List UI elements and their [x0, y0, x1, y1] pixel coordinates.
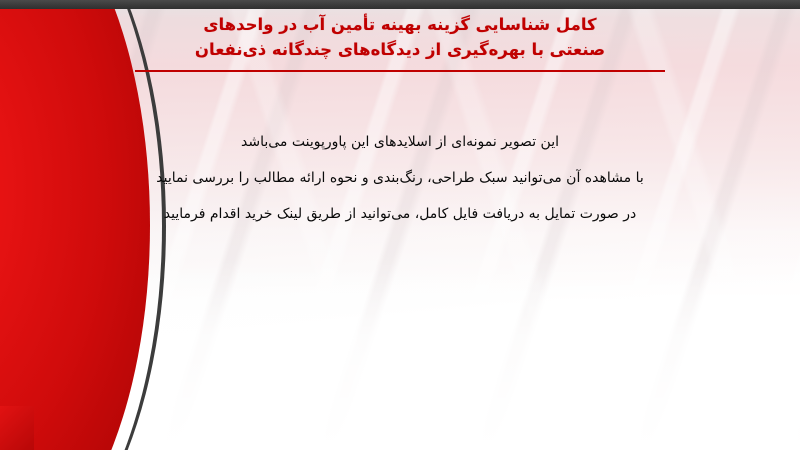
- presentation-slide: کامل شناسایی گزینه بهینه تأمین آب در واح…: [0, 0, 800, 450]
- slide-title: کامل شناسایی گزینه بهینه تأمین آب در واح…: [0, 12, 800, 62]
- body-line-1: این تصویر نمونه‌ای از اسلایدهای این پاور…: [0, 124, 800, 160]
- slide-title-line-1: کامل شناسایی گزینه بهینه تأمین آب در واح…: [0, 12, 800, 37]
- body-line-3: در صورت تمایل به دریافت فایل کامل، می‌تو…: [0, 196, 800, 232]
- slide-body: این تصویر نمونه‌ای از اسلایدهای این پاور…: [0, 124, 800, 232]
- red-corner-notch: [0, 406, 34, 450]
- title-underline: [135, 70, 665, 72]
- top-dark-bar: [0, 0, 800, 9]
- body-line-2: با مشاهده آن می‌توانید سبک طراحی، رنگ‌بن…: [0, 160, 800, 196]
- slide-title-line-2: صنعتی با بهره‌گیری از دیدگاه‌های چندگانه…: [0, 37, 800, 62]
